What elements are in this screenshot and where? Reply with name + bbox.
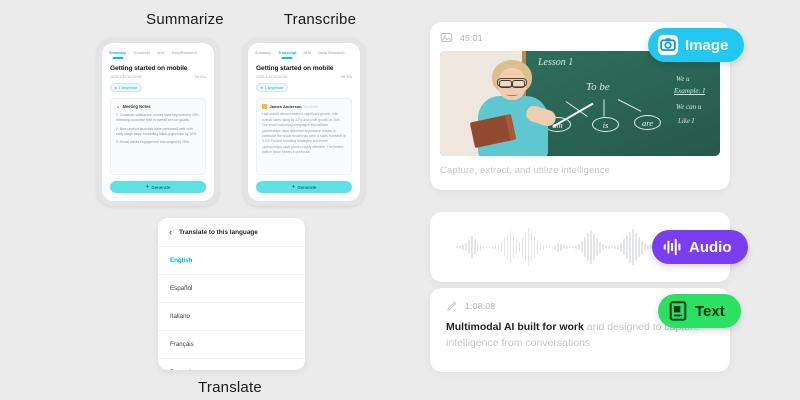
image-card-timestamp: 45:01 <box>460 33 483 43</box>
waveform-bar <box>459 246 461 249</box>
waveform-bar <box>587 233 589 261</box>
keyphrase-chip-label: 1 keyphrase <box>119 86 137 90</box>
waveform-bar <box>584 237 586 257</box>
teacher-smile <box>506 91 518 96</box>
teacher-glasses <box>497 78 527 87</box>
right-feature-pane: 45:01 Lesson 1 To be am is are We u Exam… <box>430 0 800 400</box>
waveform-bar <box>525 232 527 262</box>
meeting-notes-body: 1. Customer satisfaction scores have imp… <box>116 113 200 145</box>
waveform-bar <box>549 246 551 248</box>
translate-language-panel: ‹ Translate to this language English Esp… <box>158 218 305 370</box>
tab-aha[interactable]: AHA <box>303 51 311 55</box>
language-option-francais[interactable]: Français <box>158 331 305 359</box>
section-label-transcribe: Transcribe <box>245 11 395 28</box>
classroom-photo: Lesson 1 To be am is are We u Example: I… <box>440 51 720 156</box>
phone-screen-summary: Summary Transcript AHA DeepResearch Gett… <box>102 43 214 201</box>
note-item: 2. New product launches have performed w… <box>116 127 200 138</box>
tabbar-transcript: Summary Transcript AHA Deep Research <box>248 43 360 55</box>
language-option-deutsch[interactable]: Deutsch <box>158 359 305 370</box>
text-card-bold: Multimodal AI built for work <box>446 321 584 333</box>
waveform-bar <box>608 246 610 249</box>
keyphrase-chip[interactable]: ★ 1 keyphrase <box>256 83 288 92</box>
pen-icon <box>446 300 458 312</box>
tabbar-summary: Summary Transcript AHA DeepResearch <box>102 43 214 55</box>
warning-icon: ▲ <box>116 104 120 109</box>
image-card-caption: Capture, extract, and utilize intelligen… <box>440 165 720 176</box>
waveform-bar <box>647 245 649 250</box>
waveform-bar <box>456 246 458 248</box>
phone-mockup-transcript: Summary Transcript AHA Deep Research Get… <box>243 38 365 206</box>
generate-area-summary: ✦ Generate <box>102 175 214 201</box>
waveform-bar <box>531 232 533 262</box>
waveform-bar <box>504 238 506 256</box>
badge-text[interactable]: Text <box>658 294 741 328</box>
waveform-bar <box>474 239 476 255</box>
waveform-bar <box>543 245 545 250</box>
chalk-heading: To be <box>586 81 610 93</box>
tag-icon: ★ <box>260 86 263 90</box>
document-date: 2025-1-12 10:20:55 <box>256 75 287 79</box>
waveform-bar <box>638 237 640 257</box>
waveform-bar <box>560 244 562 251</box>
generate-button-label: Generate <box>297 185 316 190</box>
document-icon <box>667 300 689 322</box>
waveform-bar <box>513 235 515 259</box>
waveform-bar <box>498 244 500 250</box>
waveform-bar <box>620 243 622 252</box>
transcript-card: James Anderson 00:00:00 Last month demon… <box>256 98 352 175</box>
document-meta: 2025-1-12 10:20:55 3H 52s <box>248 72 360 79</box>
waveform-bar <box>617 245 619 250</box>
speaker-timestamp: 00:00:00 <box>304 105 318 109</box>
generate-button-label: Generate <box>151 185 170 190</box>
waveform-bar <box>480 245 482 250</box>
document-meta: 2025-1-12 10:20:05 3H 02s <box>102 72 214 79</box>
transcript-speaker-row: James Anderson 00:00:00 <box>262 104 346 109</box>
waveform-bar <box>519 242 521 252</box>
tab-transcript[interactable]: Transcript <box>278 51 296 55</box>
text-card-timestamp: 1:08:08 <box>465 301 495 311</box>
waveform-bar <box>575 246 577 249</box>
chevron-left-icon[interactable]: ‹ <box>169 228 172 237</box>
waveform-bar <box>590 230 592 264</box>
waveform-bar <box>489 246 491 248</box>
meeting-notes-card: ▲ Meeting Notes 1. Customer satisfaction… <box>110 98 206 175</box>
tab-deepresearch[interactable]: DeepResearch <box>172 51 197 55</box>
tag-icon: ★ <box>114 86 117 90</box>
waveform-bar <box>465 243 467 251</box>
chalk-note: We can u <box>676 103 701 111</box>
badge-image[interactable]: Image <box>648 28 744 62</box>
translate-panel-header: ‹ Translate to this language <box>158 218 305 247</box>
waveform-bar <box>468 240 470 254</box>
waveform-bar <box>557 243 559 252</box>
phone-screen-transcript: Summary Transcript AHA Deep Research Get… <box>248 43 360 201</box>
waveform-icon <box>661 236 683 258</box>
waveform-bar <box>507 234 509 260</box>
phone-mockup-summary: Summary Transcript AHA DeepResearch Gett… <box>97 38 219 206</box>
waveform-bar <box>563 245 565 249</box>
meeting-notes-title: Meeting Notes <box>123 104 151 109</box>
generate-button[interactable]: ✦ Generate <box>256 181 352 193</box>
tab-transcript[interactable]: Transcript <box>133 51 150 55</box>
speaker-name: James Anderson <box>270 104 302 109</box>
waveform-bar <box>581 241 583 253</box>
transcript-text: Last month demonstrated a significant gr… <box>262 112 346 156</box>
tab-summary[interactable]: Summary <box>109 51 126 55</box>
chalk-note: We u <box>676 75 690 83</box>
waveform-bar <box>501 242 503 252</box>
waveform-bar <box>471 236 473 258</box>
waveform-bar <box>552 246 554 249</box>
document-duration: 3H 02s <box>195 75 206 79</box>
language-option-espanol[interactable]: Español <box>158 275 305 303</box>
document-duration: 3H 52s <box>341 75 352 79</box>
waveform-bar <box>540 243 542 251</box>
badge-audio-label: Audio <box>689 239 732 256</box>
feature-card-image: 45:01 Lesson 1 To be am is are We u Exam… <box>430 22 730 190</box>
waveform-bar <box>495 245 497 249</box>
waveform-bar <box>546 246 548 249</box>
waveform-bar <box>644 243 646 251</box>
waveform-bar <box>554 245 556 250</box>
waveform-bar <box>462 245 464 250</box>
waveform-bar <box>477 243 479 252</box>
waveform-bar <box>605 245 607 249</box>
avatar <box>262 104 267 109</box>
camera-icon <box>657 34 679 56</box>
feature-card-audio: Audio <box>430 212 730 282</box>
note-item: 1. Customer satisfaction scores have imp… <box>116 113 200 124</box>
waveform-bar <box>641 241 643 254</box>
chalk-note: Like I <box>678 117 694 125</box>
waveform-bar <box>510 231 512 263</box>
note-item: 3. Social media engagement has surged by… <box>116 140 200 145</box>
waveform-bar <box>569 246 571 248</box>
waveform-bar <box>516 239 518 255</box>
feature-card-text: 1:08:08 Multimodal AI built for work and… <box>430 288 730 372</box>
waveform-bar <box>528 228 530 266</box>
waveform-bar <box>629 232 631 263</box>
waveform-bar <box>483 246 485 249</box>
chalk-form-is: is <box>592 117 619 132</box>
tab-deepresearch[interactable]: Deep Research <box>318 51 344 55</box>
translate-panel-title: Translate to this language <box>179 229 258 236</box>
waveform-bar <box>492 246 494 249</box>
waveform-bar <box>537 240 539 254</box>
badge-audio[interactable]: Audio <box>652 230 748 264</box>
badge-image-label: Image <box>685 37 728 54</box>
waveform-bar <box>534 236 536 258</box>
waveform-bar <box>566 246 568 249</box>
sparkle-icon: ✦ <box>292 184 296 190</box>
waveform-bar <box>486 246 488 248</box>
keyphrase-chip-label: 1 keyphrase <box>265 86 283 90</box>
language-option-italiano[interactable]: Italiano <box>158 303 305 331</box>
waveform-bar <box>593 234 595 260</box>
document-date: 2025-1-12 10:20:05 <box>110 75 141 79</box>
waveform-bar <box>578 244 580 250</box>
left-showcase-pane: Summarize Transcribe Translate Summary T… <box>0 0 420 400</box>
section-label-translate: Translate <box>155 379 305 396</box>
chalk-note: Example: I <box>674 87 705 95</box>
document-title: Getting started on mobile <box>248 55 360 72</box>
chalk-form-are: are <box>634 115 661 130</box>
section-label-summarize: Summarize <box>110 11 260 28</box>
chalk-arrow <box>618 99 642 112</box>
badge-text-label: Text <box>695 303 725 320</box>
teacher-figure <box>470 60 556 156</box>
image-icon <box>440 31 453 44</box>
waveform-bar <box>599 242 601 253</box>
waveform-bar <box>635 233 637 261</box>
tab-aha[interactable]: AHA <box>157 51 165 55</box>
waveform-bar <box>596 238 598 256</box>
waveform-bar <box>626 235 628 259</box>
waveform-bar <box>522 237 524 257</box>
waveform-bar <box>611 246 613 248</box>
generate-button[interactable]: ✦ Generate <box>110 181 206 193</box>
chalk-arrow <box>604 100 605 117</box>
tab-summary[interactable]: Summary <box>255 51 271 55</box>
waveform-bar <box>632 229 634 265</box>
sparkle-icon: ✦ <box>146 184 150 190</box>
generate-area-transcript: ✦ Generate <box>248 175 360 201</box>
waveform-bar <box>572 246 574 248</box>
meeting-notes-header: ▲ Meeting Notes <box>116 104 200 109</box>
keyphrase-chip[interactable]: ★ 1 keyphrase <box>110 83 142 92</box>
waveform-bar <box>602 244 604 250</box>
language-option-english[interactable]: English <box>158 247 305 275</box>
waveform-bar <box>614 246 616 249</box>
waveform-bar <box>623 239 625 255</box>
